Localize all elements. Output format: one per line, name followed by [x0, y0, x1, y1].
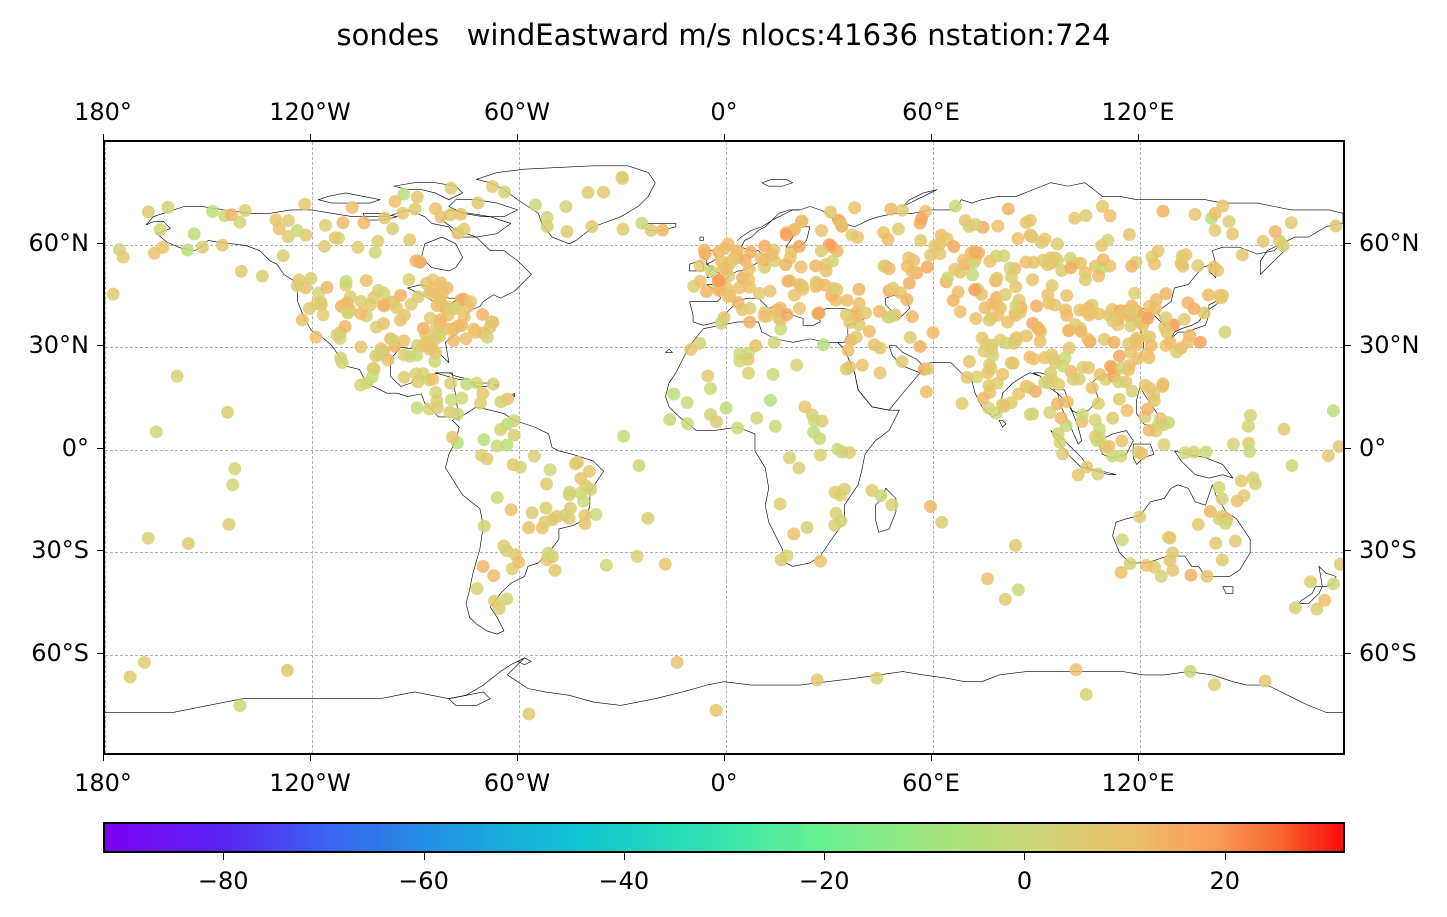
scatter-point: [1009, 299, 1022, 312]
scatter-point: [360, 274, 373, 287]
scatter-point: [924, 500, 937, 513]
scatter-point: [781, 308, 794, 321]
scatter-point: [1012, 232, 1025, 245]
scatter-point: [584, 483, 597, 496]
scatter-point: [1086, 381, 1099, 394]
scatter-point: [124, 670, 137, 683]
scatter-point: [921, 261, 934, 274]
scatter-point: [701, 369, 714, 382]
scatter-point: [235, 265, 248, 278]
scatter-point: [851, 231, 864, 244]
scatter-point: [715, 317, 728, 330]
scatter-point: [814, 449, 827, 462]
ytick-label-right: 0°: [1359, 434, 1386, 462]
scatter-point: [1208, 678, 1221, 691]
scatter-point: [1108, 336, 1121, 349]
scatter-point: [444, 377, 457, 390]
scatter-point: [540, 502, 553, 515]
colorbar[interactable]: [103, 822, 1345, 853]
scatter-point: [1135, 447, 1148, 460]
scatter-point: [1213, 481, 1226, 494]
ytick-label-left: 60°S: [31, 639, 89, 667]
scatter-point: [426, 373, 439, 386]
scatter-point: [1030, 300, 1043, 313]
scatter-point: [1112, 375, 1125, 388]
scatter-point: [667, 387, 680, 400]
scatter-point: [542, 547, 555, 560]
scatter-point: [336, 216, 349, 229]
scatter-point: [445, 393, 458, 406]
scatter-point: [758, 310, 771, 323]
scatter-point: [138, 656, 151, 669]
scatter-point: [894, 286, 907, 299]
scatter-point: [1079, 209, 1092, 222]
scatter-point: [1031, 321, 1044, 334]
scatter-point: [1257, 235, 1270, 248]
scatter-point: [148, 247, 161, 260]
scatter-point: [1062, 324, 1075, 337]
scatter-point: [710, 704, 723, 717]
scatter-point: [998, 249, 1011, 262]
scatter-point: [921, 362, 934, 375]
scatter-point: [481, 331, 494, 344]
scatter-point: [1191, 259, 1204, 272]
scatter-point: [317, 308, 330, 321]
scatter-point: [1123, 228, 1136, 241]
scatter-point: [792, 461, 805, 474]
scatter-point: [1026, 407, 1039, 420]
colorbar-tick-label: −60: [398, 867, 449, 895]
scatter-point: [704, 382, 717, 395]
scatter-point: [434, 295, 447, 308]
scatter-point: [1278, 423, 1291, 436]
scatter-point: [915, 212, 928, 225]
scatter-point: [684, 343, 697, 356]
scatter-point: [920, 385, 933, 398]
scatter-point: [1009, 539, 1022, 552]
scatter-point: [764, 394, 777, 407]
scatter-point: [1120, 404, 1133, 417]
scatter-point: [883, 262, 896, 275]
scatter-point: [222, 518, 235, 531]
scatter-point: [474, 397, 487, 410]
scatter-point: [585, 220, 598, 233]
scatter-point: [369, 350, 382, 363]
scatter-point: [1048, 251, 1061, 264]
scatter-point: [1216, 554, 1229, 567]
scatter-point: [498, 186, 511, 199]
scatter-point: [188, 227, 201, 240]
scatter-point: [835, 218, 848, 231]
colorbar-tickmark: [1024, 853, 1025, 860]
scatter-point: [1158, 438, 1171, 451]
scatter-point: [1259, 675, 1272, 688]
scatter-point: [1052, 427, 1065, 440]
scatter-point: [617, 430, 630, 443]
scatter-point: [906, 310, 919, 323]
scatter-point: [1218, 326, 1231, 339]
scatter-point: [727, 252, 740, 265]
scatter-point: [451, 407, 464, 420]
scatter-point: [351, 241, 364, 254]
scatter-point: [549, 564, 562, 577]
scatter-point: [1064, 261, 1077, 274]
scatter-point: [296, 314, 309, 327]
xtick-label-bottom: 120°E: [1102, 769, 1175, 797]
colorbar-tick-label: −80: [198, 867, 249, 895]
scatter-point: [1184, 665, 1197, 678]
scatter-point: [863, 325, 876, 338]
scatter-point: [318, 240, 331, 253]
colorbar-tick-label: −40: [599, 867, 650, 895]
scatter-point: [1152, 245, 1165, 258]
scatter-point: [281, 664, 294, 677]
scatter-point: [856, 359, 869, 372]
scatter-point: [852, 283, 865, 296]
scatter-point: [1116, 533, 1129, 546]
scatter-point: [403, 234, 416, 247]
scatter-point: [947, 240, 960, 253]
tickmark-bottom: [1138, 755, 1139, 761]
scatter-point: [874, 342, 887, 355]
scatter-point: [196, 241, 209, 254]
scatter-point: [928, 239, 941, 252]
scatter-point: [330, 329, 343, 342]
scatter-point: [991, 220, 1004, 233]
scatter-point: [671, 656, 684, 669]
scatter-point: [582, 186, 595, 199]
scatter-point: [963, 220, 976, 233]
scatter-point: [428, 355, 441, 368]
scatter-point: [528, 450, 541, 463]
scatter-point: [1322, 449, 1335, 462]
tickmark-left: [97, 448, 103, 449]
scatter-point: [1236, 249, 1249, 262]
scatter-point: [476, 560, 489, 573]
scatter-point: [539, 515, 552, 528]
scatter-point: [357, 216, 370, 229]
colorbar-tickmark: [824, 853, 825, 860]
scatter-point: [354, 295, 367, 308]
scatter-point: [848, 201, 861, 214]
scatter-point: [952, 286, 965, 299]
scatter-point: [225, 208, 238, 221]
scatter-point: [458, 223, 471, 236]
scatter-point: [340, 275, 353, 288]
scatter-point: [793, 240, 806, 253]
scatter-point: [291, 224, 304, 237]
scatter-point: [698, 244, 711, 257]
xtick-label-bottom: 0°: [710, 769, 737, 797]
scatter-point: [182, 537, 195, 550]
scatter-point: [1106, 412, 1119, 425]
tickmark-right: [1345, 345, 1351, 346]
scatter-point: [1235, 474, 1248, 487]
scatter-point: [398, 309, 411, 322]
scatter-point: [979, 301, 992, 314]
scatter-point: [341, 296, 354, 309]
scatter-point: [273, 223, 286, 236]
scatter-point: [427, 281, 440, 294]
scatter-point: [405, 298, 418, 311]
scatter-point: [1181, 336, 1194, 349]
scatter-point: [216, 239, 229, 252]
scatter-point: [481, 452, 494, 465]
scatter-point: [454, 208, 467, 221]
scatter-point: [366, 370, 379, 383]
scatter-point: [710, 415, 723, 428]
scatter-point: [1024, 214, 1037, 227]
scatter-point: [150, 425, 163, 438]
scatter-point: [1229, 535, 1242, 548]
scatter-point: [564, 502, 577, 515]
scatter-point: [963, 355, 976, 368]
scatter-point: [769, 420, 782, 433]
ytick-label-right: 30°S: [1359, 536, 1417, 564]
colorbar-tick-label: 20: [1210, 867, 1241, 895]
xtick-label-top: 0°: [710, 98, 737, 126]
scatter-point: [1334, 558, 1343, 571]
colorbar-tickmark: [424, 853, 425, 860]
scatter-point: [954, 266, 967, 279]
xtick-label-bottom: 60°E: [902, 769, 960, 797]
scatter-point: [840, 363, 853, 376]
scatter-point: [1126, 385, 1139, 398]
scatter-point: [1148, 258, 1161, 271]
colorbar-tickmark: [223, 853, 224, 860]
scatter-point: [447, 334, 460, 347]
scatter-point: [774, 498, 787, 511]
scatter-point: [1068, 212, 1081, 225]
scatter-point: [842, 344, 855, 357]
scatter-point: [398, 349, 411, 362]
scatter-point: [410, 367, 423, 380]
scatter-point: [1219, 517, 1232, 530]
scatter-point: [996, 398, 1009, 411]
scatter-point: [715, 255, 728, 268]
scatter-point: [750, 412, 763, 425]
scatter-point: [1231, 495, 1244, 508]
scatter-point: [206, 205, 219, 218]
scatter-point: [1113, 350, 1126, 363]
scatter-point: [277, 249, 290, 262]
scatter-point: [1045, 348, 1058, 361]
scatter-point: [1099, 441, 1112, 454]
scatter-point: [1140, 559, 1153, 572]
scatter-point: [799, 400, 812, 413]
scatter-point: [487, 378, 500, 391]
tickmark-top: [1138, 134, 1139, 140]
scatter-point: [826, 255, 839, 268]
xtick-label-top: 60°E: [902, 98, 960, 126]
scatter-point: [233, 699, 246, 712]
scatter-point: [838, 483, 851, 496]
scatter-point: [529, 198, 542, 211]
scatter-point: [1130, 334, 1143, 347]
scatter-point: [1048, 299, 1061, 312]
scatter-point: [540, 478, 553, 491]
scatter-point: [1289, 601, 1302, 614]
scatter-point: [882, 233, 895, 246]
scatter-point: [171, 370, 184, 383]
scatter-point: [783, 451, 796, 464]
tickmark-right: [1345, 243, 1351, 244]
scatter-point: [744, 245, 757, 258]
scatter-point: [811, 673, 824, 686]
scatter-point: [1057, 359, 1070, 372]
scatter-point: [1154, 412, 1167, 425]
colorbar-tick-label: 0: [1017, 867, 1032, 895]
scatter-point: [446, 431, 459, 444]
scatter-point: [1081, 333, 1094, 346]
scatter-point: [969, 312, 982, 325]
scatter-point: [544, 463, 557, 476]
scatter-point: [873, 305, 886, 318]
scatter-point: [477, 433, 490, 446]
scatter-point: [1166, 547, 1179, 560]
scatter-point: [999, 593, 1012, 606]
scatter-point: [1143, 424, 1156, 437]
tickmark-left: [97, 653, 103, 654]
scatter-point: [1056, 447, 1069, 460]
scatter-point: [417, 339, 430, 352]
scatter-point: [949, 200, 962, 213]
scatter-point: [1247, 472, 1260, 485]
scatter-point: [1243, 445, 1256, 458]
scatter-point: [1133, 510, 1146, 523]
scatter-point: [1008, 337, 1021, 350]
scatter-point: [1201, 570, 1214, 583]
scatter-point: [221, 406, 234, 419]
scatter-point: [1155, 570, 1168, 583]
scatter-point: [1092, 270, 1105, 283]
scatter-point: [961, 371, 974, 384]
scatter-point: [563, 486, 576, 499]
scatter-point: [935, 516, 948, 529]
scatter-point: [779, 258, 792, 271]
scatter-point: [1178, 313, 1191, 326]
scatter-point: [298, 198, 311, 211]
scatter-point: [615, 171, 628, 184]
scatter-point: [578, 517, 591, 530]
scatter-point: [476, 308, 489, 321]
scatter-point: [386, 222, 399, 235]
scatter-point: [522, 521, 535, 534]
scatter-point: [1092, 397, 1105, 410]
colorbar-tick-label: −20: [799, 867, 850, 895]
scatter-point: [1051, 238, 1064, 251]
scatter-point: [926, 326, 939, 339]
scatter-point: [656, 224, 669, 237]
scatter-point: [1209, 537, 1222, 550]
scatter-point: [1207, 261, 1220, 274]
scatter-point: [1007, 357, 1020, 370]
scatter-point: [720, 402, 733, 415]
scatter-point: [874, 366, 887, 379]
scatter-point: [617, 223, 630, 236]
scatter-point: [1242, 420, 1255, 433]
scatter-point: [743, 316, 756, 329]
scatter-point: [780, 549, 793, 562]
xtick-label-bottom: 180°: [74, 769, 132, 797]
scatter-point: [411, 401, 424, 414]
scatter-point: [1216, 199, 1229, 212]
tickmark-top: [724, 134, 725, 140]
scatter-point: [817, 338, 830, 351]
scatter-point: [874, 489, 887, 502]
scatter-point: [780, 228, 793, 241]
scatter-point: [896, 355, 909, 368]
map-plot-area[interactable]: [103, 140, 1345, 755]
scatter-point: [1113, 393, 1126, 406]
ytick-label-right: 30°N: [1359, 331, 1420, 359]
scatter-point: [1060, 289, 1073, 302]
scatter-point: [1067, 373, 1080, 386]
xtick-label-top: 120°W: [269, 98, 351, 126]
scatter-point: [402, 273, 415, 286]
scatter-point: [1012, 583, 1025, 596]
scatter-point: [561, 225, 574, 238]
scatter-point: [410, 254, 423, 267]
scatter-point: [1226, 227, 1239, 240]
scatter-point: [1162, 531, 1175, 544]
scatter-point: [501, 418, 514, 431]
scatter-point: [1148, 394, 1161, 407]
tickmark-bottom: [310, 755, 311, 761]
scatter-point: [600, 559, 613, 572]
scatter-point: [409, 203, 422, 216]
scatter-point: [814, 555, 827, 568]
scatter-point: [560, 200, 573, 213]
scatter-point: [1079, 273, 1092, 286]
scatter-point: [470, 582, 483, 595]
scatter-point: [681, 417, 694, 430]
scatter-point: [1128, 287, 1141, 300]
scatter-point: [954, 305, 967, 318]
scatter-point: [1157, 205, 1170, 218]
scatter-point: [346, 201, 359, 214]
scatter-point: [1081, 305, 1094, 318]
figure-canvas: sondes windEastward m/s nlocs:41636 nsta…: [0, 0, 1447, 917]
scatter-point: [577, 495, 590, 508]
scatter-point: [430, 394, 443, 407]
scatter-point: [1026, 273, 1039, 286]
scatter-point: [990, 272, 1003, 285]
scatter-point: [377, 299, 390, 312]
scatter-point: [396, 207, 409, 220]
scatter-point: [1080, 688, 1093, 701]
scatter-point: [500, 544, 513, 557]
scatter-point: [722, 238, 735, 251]
scatter-point: [968, 283, 981, 296]
scatter-point: [808, 414, 821, 427]
scatter-point: [512, 556, 525, 569]
scatter-point: [460, 378, 473, 391]
xtick-label-top: 120°E: [1102, 98, 1175, 126]
scatter-point: [815, 245, 828, 258]
scatter-point: [1269, 225, 1282, 238]
tickmark-right: [1345, 550, 1351, 551]
scatter-point: [377, 317, 390, 330]
xtick-label-top: 60°W: [484, 98, 550, 126]
scatter-point: [1082, 361, 1095, 374]
scatter-point: [304, 272, 317, 285]
scatter-point: [1104, 209, 1117, 222]
scatter-point: [787, 528, 800, 541]
scatter-point: [1094, 368, 1107, 381]
scatter-point: [1188, 208, 1201, 221]
scatter-point: [663, 413, 676, 426]
